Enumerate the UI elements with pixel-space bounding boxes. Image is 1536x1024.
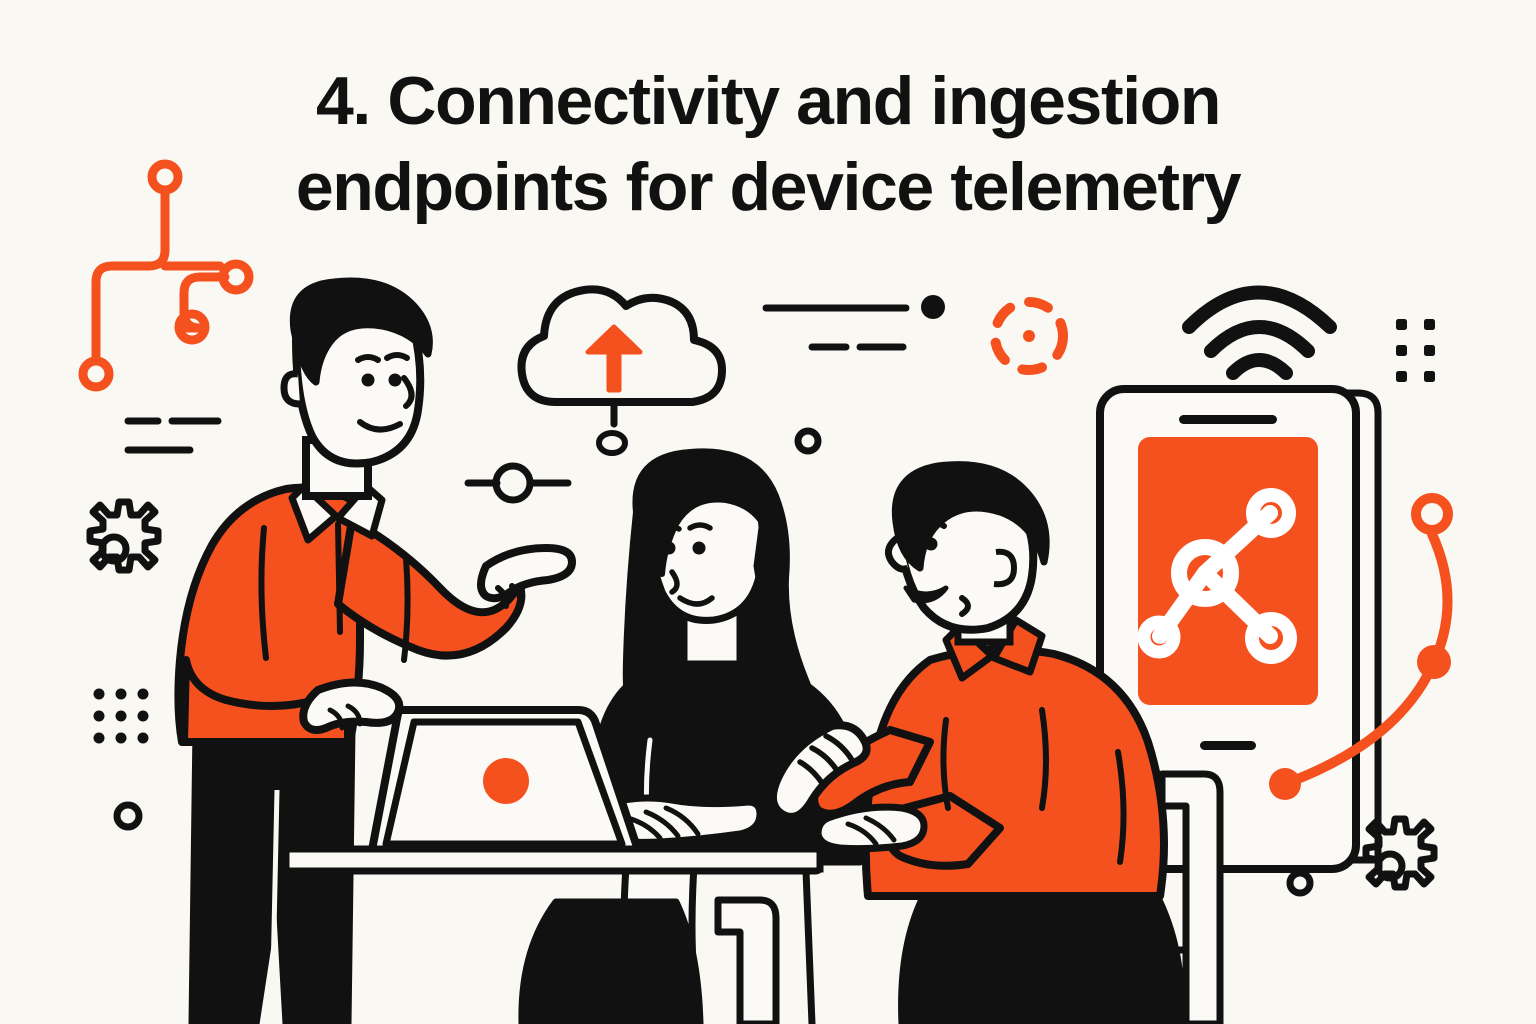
illustration-canvas: 4. Connectivity and ingestion endpoints … xyxy=(0,0,1536,1024)
connector-filled-node-bottom xyxy=(1269,768,1301,800)
presenter-eye-right xyxy=(389,374,402,387)
presenter-eye-left xyxy=(362,374,375,387)
phone-home-indicator xyxy=(1200,741,1256,750)
seated-man-eye xyxy=(925,538,938,551)
connector-filled-node-top xyxy=(1417,645,1451,679)
woman-eye-left xyxy=(663,542,676,555)
woman-eye-right xyxy=(693,542,706,555)
seated-man-legs xyxy=(902,884,1181,1024)
scene-illustration xyxy=(0,0,1536,1024)
woman-legs xyxy=(522,902,700,1024)
filled-dot-center xyxy=(921,295,945,319)
laptop-logo-icon xyxy=(483,758,529,804)
seated-man-table-hand xyxy=(818,807,924,849)
laptop-device xyxy=(372,710,638,850)
phone-earpiece xyxy=(1179,415,1277,424)
dot-grid-left-icon xyxy=(94,689,149,744)
